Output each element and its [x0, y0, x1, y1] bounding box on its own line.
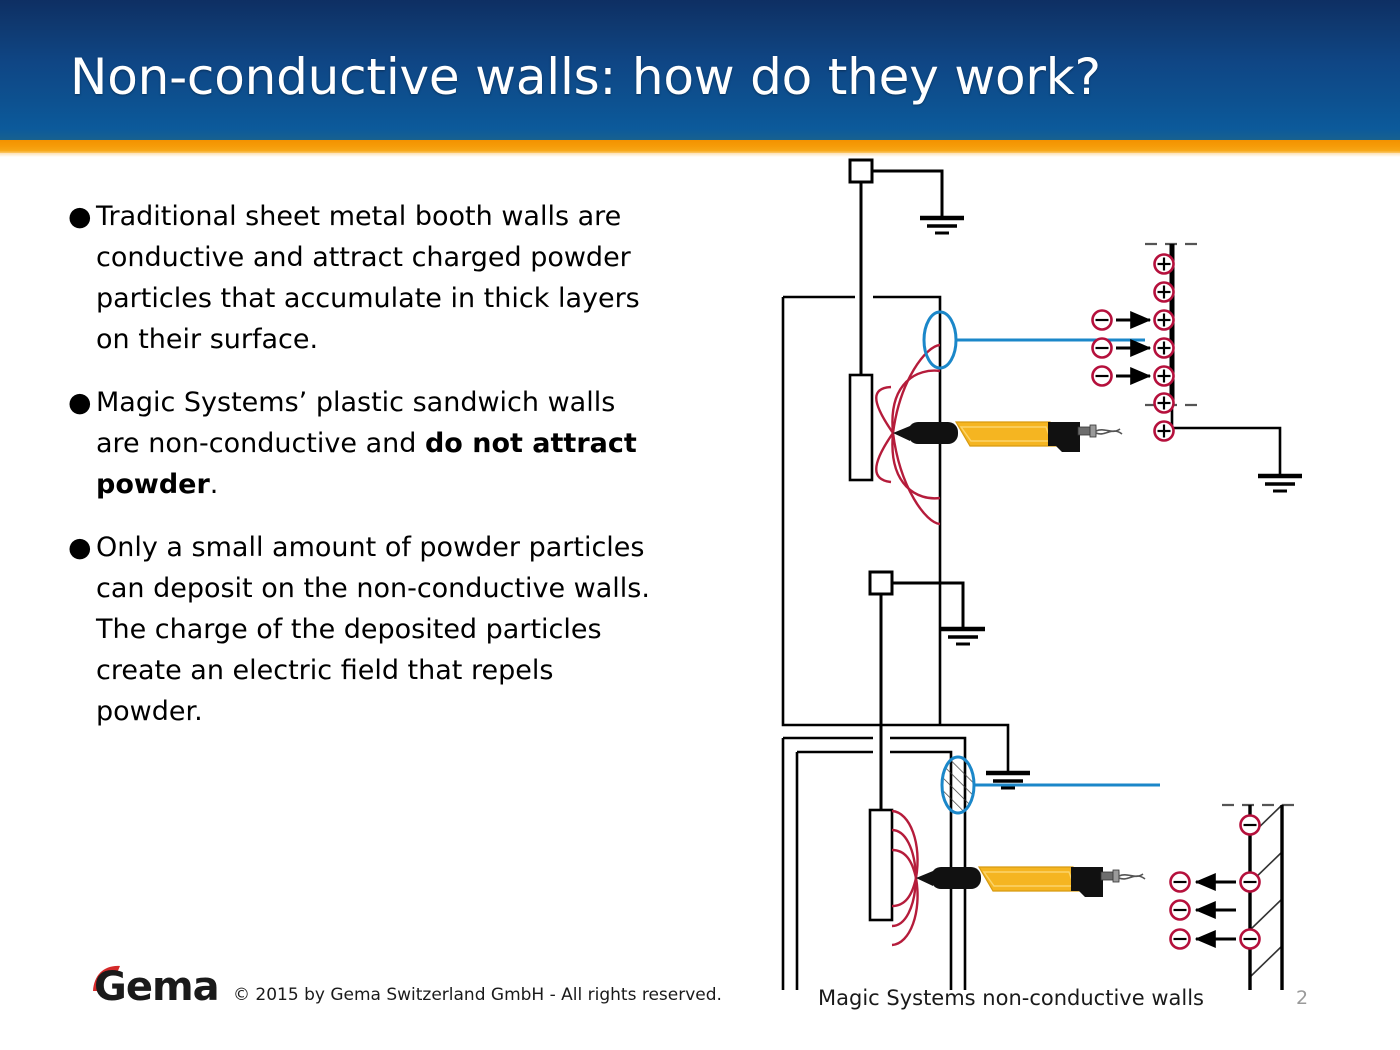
bullet-text-segment: Traditional sheet metal booth walls are …: [96, 201, 640, 355]
top-spray-gun: [893, 422, 1122, 452]
bottom-diagram-group: [783, 572, 1300, 990]
bullet-text: Magic Systems’ plastic sandwich walls ar…: [96, 382, 662, 505]
page-title: Non-conductive walls: how do they work?: [70, 48, 1101, 106]
non-conductive-wall-diagram: [760, 150, 1360, 990]
bullet-marker-icon: ●: [62, 382, 96, 423]
top-diagram-group: [783, 160, 1302, 788]
bullet-item: ●Only a small amount of powder particles…: [62, 527, 662, 732]
bullet-marker-icon: ●: [62, 196, 96, 237]
bullet-text: Only a small amount of powder particles …: [96, 527, 662, 732]
bullet-text: Traditional sheet metal booth walls are …: [96, 196, 662, 360]
bottom-repulsion-arrows: [1196, 882, 1236, 939]
bullet-text-segment: Only a small amount of powder particles …: [96, 532, 650, 727]
ground-symbol-top-1: [920, 218, 964, 233]
bullet-text-segment: .: [210, 469, 219, 500]
bottom-field-lines: [892, 811, 918, 945]
figure-caption: Magic Systems non-conductive walls: [818, 986, 1204, 1010]
bullet-list: ●Traditional sheet metal booth walls are…: [62, 196, 662, 754]
bullet-marker-icon: ●: [62, 527, 96, 568]
ground-symbol-top-3: [1258, 476, 1302, 491]
page-number: 2: [1296, 987, 1308, 1009]
top-wall-ground-wire: [1172, 405, 1280, 475]
top-ground-wire-1: [872, 171, 942, 217]
gema-logo: Gema: [86, 963, 216, 1011]
top-hanger-box: [850, 160, 872, 182]
bullet-item: ●Traditional sheet metal booth walls are…: [62, 196, 662, 360]
copyright-notice: © 2015 by Gema Switzerland GmbH - All ri…: [233, 985, 722, 1005]
bottom-workpiece-panel: [870, 810, 892, 920]
bottom-repelled-negative-charges: [1171, 873, 1190, 949]
bullet-item: ●Magic Systems’ plastic sandwich walls a…: [62, 382, 662, 505]
ground-symbol-bottom-1: [941, 629, 985, 644]
top-attraction-arrows: [1116, 320, 1150, 376]
bottom-hanger-box: [870, 572, 892, 594]
bottom-ground-wire: [892, 583, 963, 628]
top-workpiece-panel: [850, 375, 872, 480]
gema-logo-wordmark: Gema: [94, 965, 219, 1009]
top-free-negative-charges: [1093, 311, 1112, 386]
